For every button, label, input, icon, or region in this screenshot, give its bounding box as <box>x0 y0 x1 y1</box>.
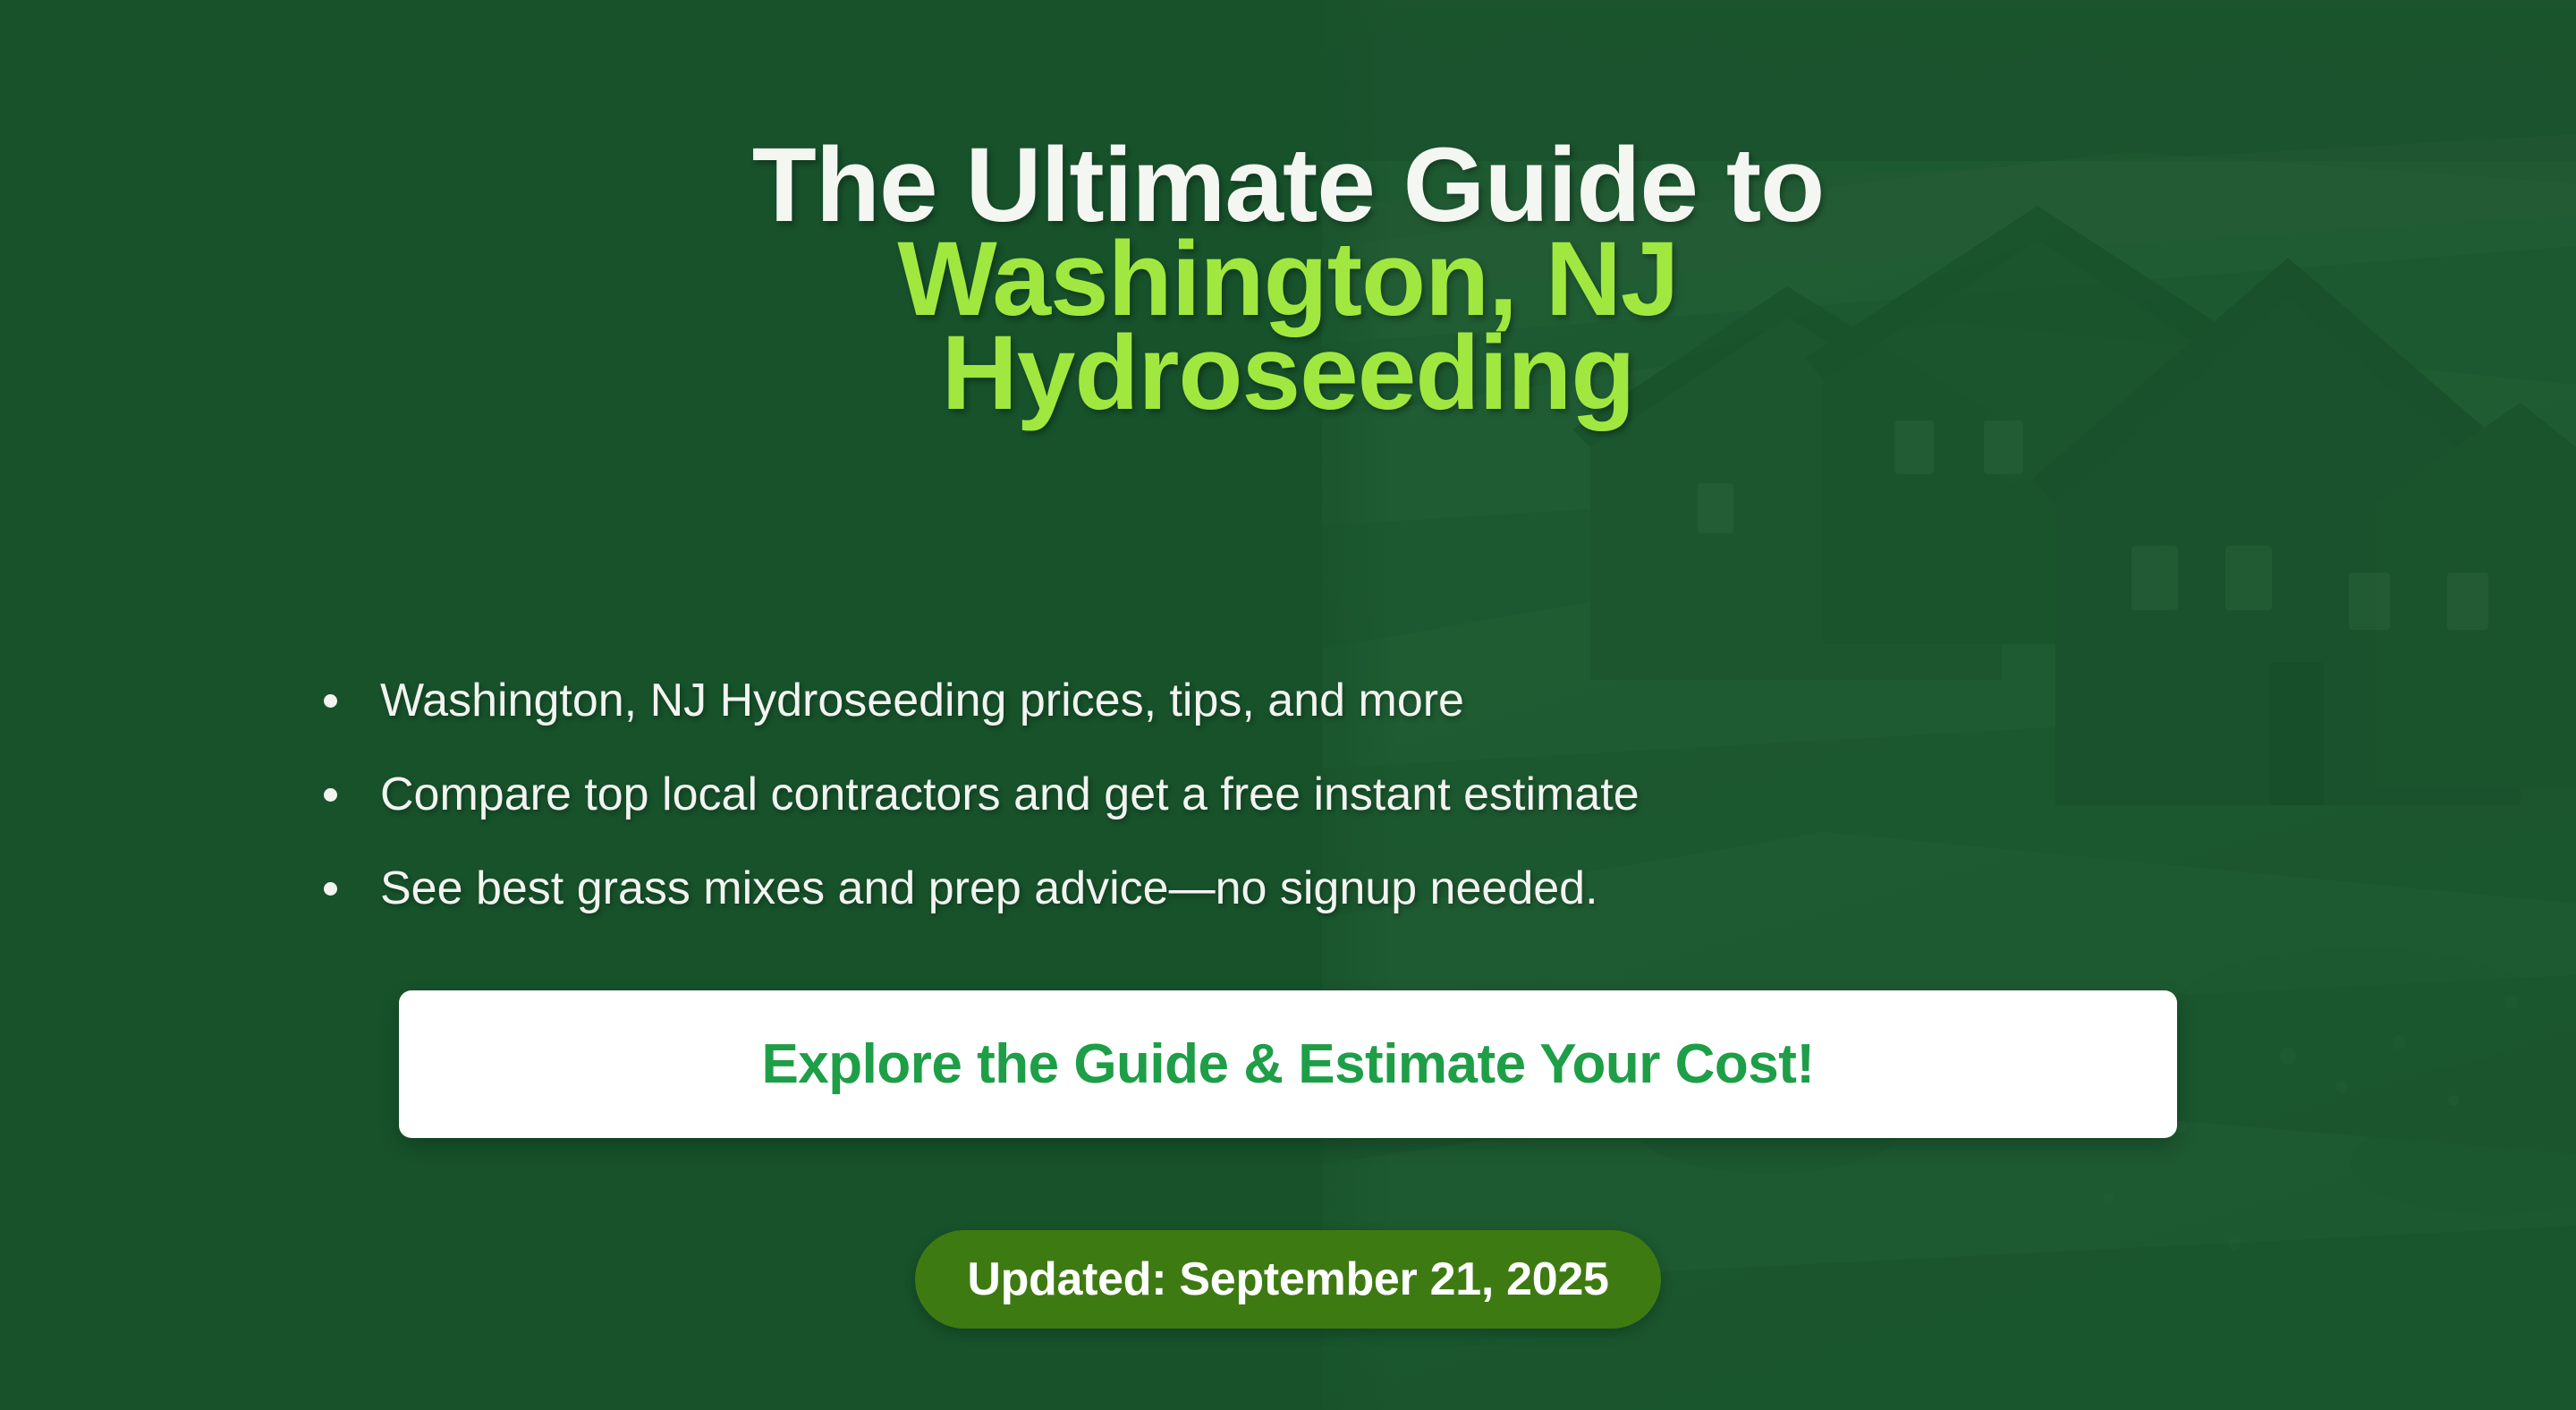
headline-line-3: Hydroseeding <box>0 327 2576 420</box>
list-item: See best grass mixes and prep advice—no … <box>315 861 2283 955</box>
feature-bullet-list: Washington, NJ Hydroseeding prices, tips… <box>315 673 2283 955</box>
list-item: Compare top local contractors and get a … <box>315 767 2283 861</box>
badge-container: Updated: September 21, 2025 <box>0 1230 2576 1329</box>
list-item: Washington, NJ Hydroseeding prices, tips… <box>315 673 2283 767</box>
headline-line-1: The Ultimate Guide to <box>0 139 2576 233</box>
page-title: The Ultimate Guide to Washington, NJ Hyd… <box>0 139 2576 420</box>
cta-container: Explore the Guide & Estimate Your Cost! <box>0 990 2576 1138</box>
explore-guide-button[interactable]: Explore the Guide & Estimate Your Cost! <box>399 990 2177 1138</box>
updated-date-badge: Updated: September 21, 2025 <box>915 1230 1660 1329</box>
headline-line-2: Washington, NJ <box>0 233 2576 327</box>
hero-banner: The Ultimate Guide to Washington, NJ Hyd… <box>0 0 2576 1410</box>
banner-content: The Ultimate Guide to Washington, NJ Hyd… <box>0 0 2576 1410</box>
